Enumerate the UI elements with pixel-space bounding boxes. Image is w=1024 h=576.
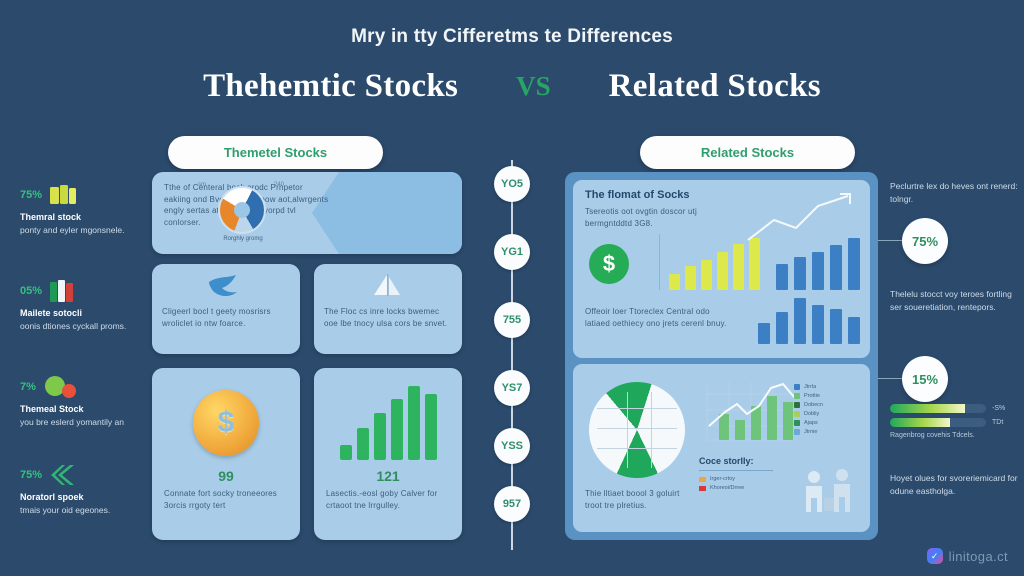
bar-1 (340, 445, 352, 460)
two-circles-icon (44, 376, 76, 398)
right-card-case-study[interactable]: Thie lltiaet boool 3 goluirt troot tre p… (573, 364, 870, 532)
case-study-legend: Irger-crtoyKhoreoi/Drree (699, 476, 779, 494)
progress-bar-row-1: -S% (890, 404, 1020, 413)
legend-item-6: Jtrnie (794, 429, 862, 435)
right-progress-bars: -S% TDt Ragenbrog covehis Tdcels. (890, 404, 1020, 439)
right-annotation-text-2: Thelelu stocct voy teroes fortling ser s… (890, 288, 1018, 314)
connector-1 (878, 240, 902, 241)
legend-item-3: Dobecn (794, 402, 862, 408)
right-annotation-text-3: Hoyet olues for svoreriemicard for odune… (890, 472, 1018, 498)
bar-5 (408, 386, 420, 460)
bar-2 (794, 257, 806, 290)
left-card-bar-chart (340, 386, 437, 460)
left-annotation-2-body: oonis dtiones cyckall proms. (20, 320, 148, 333)
pill-thematic-stocks[interactable]: Themetel Stocks (168, 136, 383, 169)
bar-5 (733, 244, 744, 290)
left-card-barchart-body: Lasectis.-eosl goby Calver for crtaoot t… (326, 488, 450, 511)
watermark-text: linitoga.ct (949, 549, 1008, 564)
left-annotation-3-pct: 7% (20, 381, 36, 393)
bar-5 (848, 238, 860, 290)
donut-grid-lines (589, 382, 685, 478)
left-annotation-4-heading: Noratorl spoek (20, 492, 148, 502)
timeline-node-4[interactable]: YS7 (494, 370, 530, 406)
left-cards-panel: Tthe of Centeral bock orodc Prnpetor eak… (152, 172, 462, 540)
bar-2 (776, 312, 788, 344)
bar-2 (357, 428, 369, 460)
brand-logo-icon (927, 548, 943, 564)
left-annotation-1: 75% Themral stock ponty and eyler mgonsn… (20, 182, 148, 237)
progress-bar-2-label: TDt (992, 419, 1003, 426)
legend-item-1: Jtrrla (794, 384, 862, 390)
right-card-title: The flomat of Socks (585, 189, 690, 201)
left-annotation-3-heading: Themeal Stock (20, 404, 148, 414)
legend-item-4: Dobliy (794, 411, 862, 417)
bar-6 (425, 394, 437, 460)
right-card-subtitle: Tsereotis oot ovgtin doscor utj bermgntd… (585, 206, 735, 229)
timeline-node-6[interactable]: 957 (494, 486, 530, 522)
bar-4 (830, 245, 842, 290)
progress-bar-1-label: -S% (992, 405, 1005, 412)
bar-3 (812, 252, 824, 290)
right-heading: Related Stocks (609, 68, 821, 105)
bar-1 (669, 274, 680, 290)
chevron-left-icon (50, 464, 76, 486)
left-annotation-4-head: 75% (20, 462, 148, 488)
progress-bars-caption: Ragenbrog covehis Tdcels. (890, 432, 1020, 439)
left-annotation-3: 7% Themeal Stock you bre eslerd yomantil… (20, 374, 148, 429)
case-study-divider (699, 470, 773, 471)
left-annotation-1-heading: Themral stock (20, 212, 148, 222)
books-icon (50, 280, 76, 302)
progress-bar-row-2: TDt (890, 418, 1020, 427)
bar-3 (374, 413, 386, 460)
right-card-caption: Thie lltiaet boool 3 goluirt troot tre p… (585, 488, 695, 511)
left-annotation-2: 05% Mailete sotocli oonis dtiones cyckal… (20, 278, 148, 333)
left-card-pie-chart (218, 186, 266, 234)
chart-legend: JtrrlaProttieDobecnDobliyAjapsJtrnie (794, 384, 862, 438)
bar-2 (685, 266, 696, 290)
left-annotation-4-pct: 75% (20, 469, 42, 481)
watermark: linitoga.ct (927, 548, 1008, 564)
case-study-legend-item-2: Khoreoi/Drree (699, 485, 779, 491)
left-card-overview[interactable]: Tthe of Centeral bock orodc Prnpetor eak… (152, 172, 462, 254)
right-card-footer: Offeoir loer Ttoreclex Central odo latia… (585, 306, 735, 329)
bird-icon (152, 272, 300, 302)
timeline-node-3[interactable]: 755 (494, 302, 530, 338)
left-card-coin[interactable]: $ 99 Connate fort socky troneeores 3orci… (152, 368, 300, 540)
dollar-circle-icon: $ (589, 244, 629, 284)
left-annotation-3-body: you bre eslerd yomantily an (20, 416, 148, 429)
left-annotation-1-pct: 75% (20, 189, 42, 201)
progress-bar-2 (890, 418, 986, 427)
left-card-barchart[interactable]: 121 Lasectis.-eosl goby Calver for crtao… (314, 368, 462, 540)
gold-coin-icon: $ (152, 382, 300, 464)
legend-item-5: Ajaps (794, 420, 862, 426)
handshake-people-icon (798, 468, 860, 524)
right-card-divider (659, 234, 660, 290)
bar-5 (830, 309, 842, 344)
left-card-bird[interactable]: Cligeerl bocl t geety mosrisrs wroliclet… (152, 264, 300, 354)
left-card-sailboat-body: The Floc cs inre locks bwemec ooe lbe tn… (324, 306, 452, 329)
combo-line-bar-chart (699, 376, 799, 450)
connector-2 (878, 378, 902, 379)
bar-4 (812, 305, 824, 344)
right-card-blue-bar-chart-bottom (758, 298, 860, 344)
pie-label-left: sm (198, 182, 206, 188)
right-cards-panel: The flomat of Socks Tsereotis oot ovgtin… (565, 172, 878, 540)
timeline-node-1[interactable]: YO5 (494, 166, 530, 202)
left-card-coin-body: Connate fort socky troneeores 3orcis rrg… (164, 488, 288, 511)
right-card-format[interactable]: The flomat of Socks Tsereotis oot ovgtin… (573, 180, 870, 358)
left-card-bird-body: Cligeerl bocl t geety mosrisrs wroliclet… (162, 306, 290, 329)
left-card-sailboat[interactable]: The Floc cs inre locks bwemec ooe lbe tn… (314, 264, 462, 354)
stacked-bars-yellow-icon (50, 185, 76, 205)
bar-1 (776, 264, 788, 290)
right-annotation-text-1: Peclurtre lex do heves ont renerd: tolng… (890, 180, 1018, 206)
right-badge-2[interactable]: 15% (902, 356, 948, 402)
header-row: Thehemtic Stocks VS Related Stocks (0, 68, 1024, 105)
sailboat-icon (314, 272, 462, 302)
case-study-legend-item-1: Irger-crtoy (699, 476, 779, 482)
bar-4 (717, 252, 728, 290)
right-badge-1[interactable]: 75% (902, 218, 948, 264)
vs-label: VS (516, 71, 551, 102)
left-annotation-4: 75% Noratorl spoek tmais your oid egeone… (20, 462, 148, 517)
progress-bar-1 (890, 404, 986, 413)
right-card-blue-bar-chart-top (776, 238, 860, 290)
case-study-label: Coce storlly: (699, 456, 754, 466)
center-timeline: YO5 YG1 755 YS7 YSS 957 (494, 160, 530, 550)
infographic-stage: Mry in tty Cifferetms te Differences The… (0, 0, 1024, 576)
green-bar-chart-icon (314, 382, 462, 464)
timeline-node-5[interactable]: YSS (494, 428, 530, 464)
bar-1 (758, 323, 770, 344)
page-subtitle: Mry in tty Cifferetms te Differences (0, 26, 1024, 48)
left-card-coin-number: 99 (152, 468, 300, 484)
left-heading: Thehemtic Stocks (203, 68, 458, 105)
right-card-donut-chart (589, 382, 685, 478)
left-annotation-2-heading: Mailete sotocli (20, 308, 148, 318)
bar-3 (701, 260, 712, 290)
left-annotation-4-body: tmais your oid egeones. (20, 504, 148, 517)
left-card-barchart-number: 121 (314, 468, 462, 484)
left-annotation-1-body: ponty and eyler mgonsnele. (20, 224, 148, 237)
pill-related-stocks[interactable]: Related Stocks (640, 136, 855, 169)
left-annotation-2-pct: 05% (20, 285, 42, 297)
legend-item-2: Prottie (794, 393, 862, 399)
bar-6 (848, 317, 860, 344)
left-annotation-1-head: 75% (20, 182, 148, 208)
left-card-chevron-shape (312, 172, 462, 254)
left-annotation-2-head: 05% (20, 278, 148, 304)
left-annotation-3-head: 7% (20, 374, 148, 400)
bar-3 (794, 298, 806, 344)
pie-label-right: 240 (274, 182, 284, 188)
left-card-pie-caption: Rorghly gromg (200, 236, 286, 242)
timeline-node-2[interactable]: YG1 (494, 234, 530, 270)
bar-4 (391, 399, 403, 460)
